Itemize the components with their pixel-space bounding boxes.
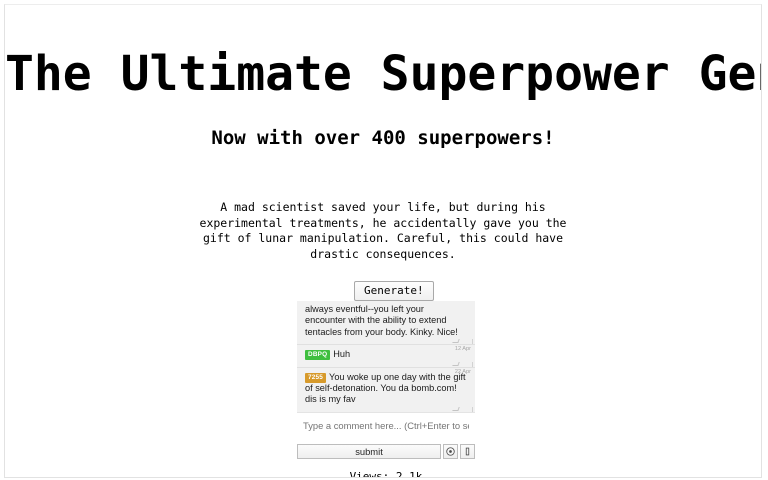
comment-message: Huh [333,349,350,359]
comment-widget: always eventful--you left your encounter… [297,301,475,459]
row-scroll-tick [472,339,473,344]
row-resize-tick [452,407,459,411]
comment-timestamp: 22 Apr [455,369,471,376]
comment-actions: submit [297,444,475,459]
page-content: The Ultimate Superpower Generator Now wi… [5,5,761,477]
page-subtitle: Now with over 400 superpowers! [5,125,761,151]
comment-item[interactable]: always eventful--you left your encounter… [297,301,475,345]
row-scroll-tick [472,407,473,412]
comment-item[interactable]: 22 Apr 7255You woke up one day with the … [297,368,475,412]
page-title: The Ultimate Superpower Generator [5,46,761,102]
row-scroll-tick [472,362,473,367]
row-resize-tick [452,339,459,343]
comment-message: You woke up one day with the gift of sel… [305,372,466,405]
comment-text: 7255You woke up one day with the gift of… [305,372,467,406]
generated-description: A mad scientist saved your life, but dur… [183,200,583,262]
comment-user-badge[interactable]: DBPQ [305,350,330,360]
expand-button[interactable] [460,444,475,459]
generate-button[interactable]: Generate! [354,281,434,301]
comment-item[interactable]: 12 Apr DBPQHuh [297,345,475,367]
row-resize-tick [452,362,459,366]
settings-button[interactable] [443,444,458,459]
comment-text: always eventful--you left your encounter… [305,304,467,338]
comment-input[interactable] [297,413,475,440]
comment-user-badge[interactable]: 7255 [305,373,326,383]
page-frame: The Ultimate Superpower Generator Now wi… [4,4,762,478]
comment-list[interactable]: always eventful--you left your encounter… [297,301,475,413]
comment-timestamp: 12 Apr [455,346,471,353]
gear-icon [446,447,455,456]
submit-button[interactable]: submit [297,444,441,459]
views-counter: Views: 2.1k [297,470,475,478]
comment-text: DBPQHuh [305,349,467,360]
expand-icon [463,447,472,456]
